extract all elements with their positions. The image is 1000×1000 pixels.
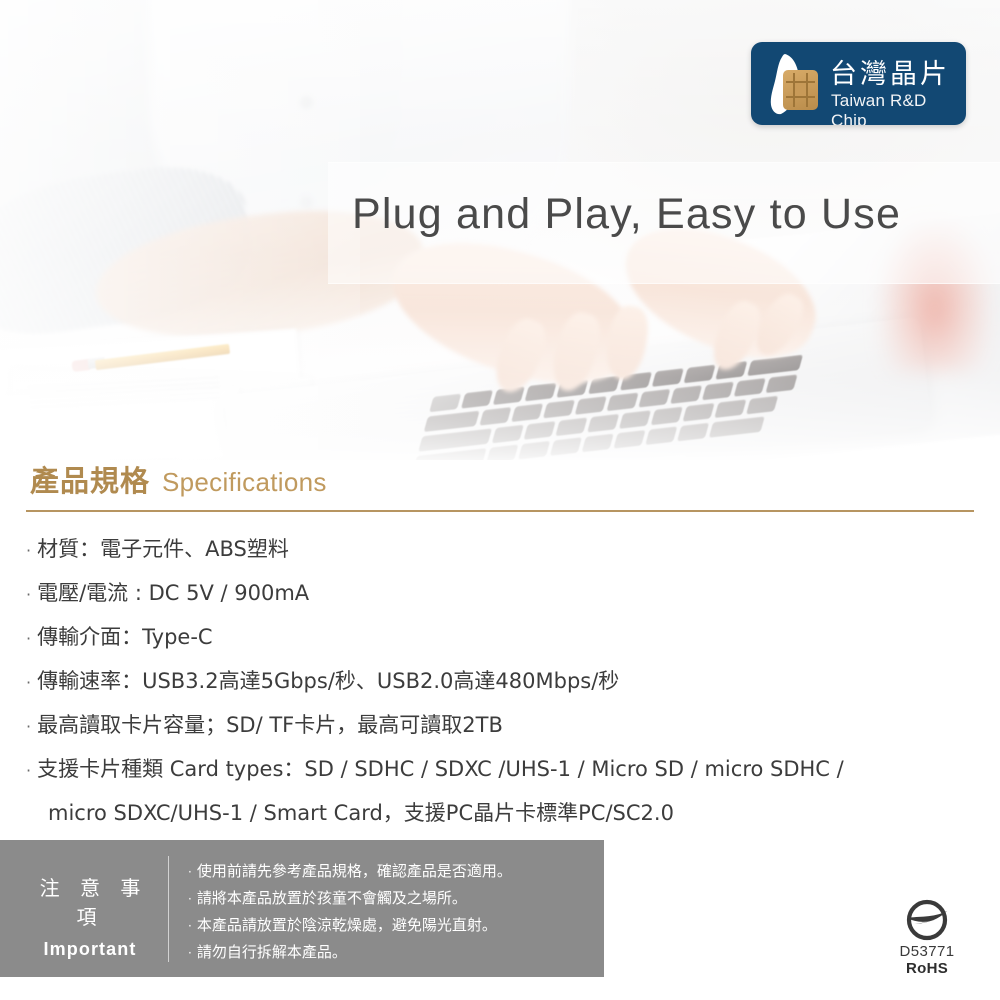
rohs-certification: D53771 RoHS xyxy=(877,898,977,977)
spec-item-text: 電壓/電流 : DC 5V / 900mA xyxy=(37,581,309,605)
specifications-list: ·材質：電子元件、ABS塑料 ·電壓/電流 : DC 5V / 900mA ·傳… xyxy=(26,528,976,834)
photo-left-fade xyxy=(0,0,360,460)
bullet-icon: · xyxy=(26,673,31,692)
notice-label-en: Important xyxy=(20,939,160,960)
brand-name-cn: 台灣晶片 xyxy=(830,52,950,91)
bullet-icon: · xyxy=(26,629,31,648)
spec-divider xyxy=(26,510,974,512)
notice-label: 注 意 事 項 Important xyxy=(20,872,160,960)
notice-item: ·請將本產品放置於孩童不會觸及之場所。 xyxy=(188,885,588,912)
notice-item-text: 請勿自行拆解本產品。 xyxy=(197,943,347,961)
bullet-icon: · xyxy=(188,892,192,906)
bullet-icon: · xyxy=(26,761,31,780)
spec-item: ·電壓/電流 : DC 5V / 900mA xyxy=(26,572,976,616)
spec-title-en: Specifications xyxy=(162,467,327,497)
notice-item-text: 使用前請先參考產品規格，確認產品是否適用。 xyxy=(197,862,512,880)
notice-item: ·請勿自行拆解本產品。 xyxy=(188,939,588,966)
spec-item-text: 傳輸速率：USB3.2高達5Gbps/秒、USB2.0高達480Mbps/秒 xyxy=(37,669,619,693)
spec-item-text: 材質：電子元件、ABS塑料 xyxy=(37,537,289,561)
rohs-mark-icon xyxy=(899,898,955,942)
important-notice-band: 注 意 事 項 Important ·使用前請先參考產品規格，確認產品是否適用。… xyxy=(0,840,604,977)
card-types-line-2: micro SDXC/UHS-1 / Smart Card，支援PC晶片卡標準P… xyxy=(26,792,976,834)
sim-chip-icon xyxy=(783,70,818,110)
spec-item: ·傳輸介面：Type-C xyxy=(26,616,976,660)
bullet-icon: · xyxy=(188,865,192,879)
notice-item-text: 本產品請放置於陰涼乾燥處，避免陽光直射。 xyxy=(197,916,497,934)
spec-title-cn: 產品規格 xyxy=(30,464,150,498)
bullet-icon: · xyxy=(188,919,192,933)
bullet-icon: · xyxy=(188,946,192,960)
notice-item: ·使用前請先參考產品規格，確認產品是否適用。 xyxy=(188,858,588,885)
notice-label-cn: 注 意 事 項 xyxy=(20,872,160,930)
spec-item: ·材質：電子元件、ABS塑料 xyxy=(26,528,976,572)
bullet-icon: · xyxy=(26,717,31,736)
rohs-label: RoHS xyxy=(877,960,977,977)
spec-item-text: 最高讀取卡片容量；SD/ TF卡片，最高可讀取2TB xyxy=(37,713,503,737)
spec-item: ·傳輸速率：USB3.2高達5Gbps/秒、USB2.0高達480Mbps/秒 xyxy=(26,660,976,704)
rohs-code: D53771 xyxy=(877,943,977,960)
bullet-icon: · xyxy=(26,541,31,560)
notice-list: ·使用前請先參考產品規格，確認產品是否適用。 ·請將本產品放置於孩童不會觸及之場… xyxy=(188,858,588,966)
brand-name-en: Taiwan R&D Chip xyxy=(831,91,966,125)
specifications-heading: 產品規格Specifications xyxy=(30,458,327,500)
brand-logo-badge: 台灣晶片 Taiwan R&D Chip xyxy=(751,42,966,125)
spec-item-card-types: ·支援卡片種類 Card types：SD / SDHC / SDXC /UHS… xyxy=(26,748,976,834)
bullet-icon: · xyxy=(26,585,31,604)
spec-item: ·最高讀取卡片容量；SD/ TF卡片，最高可讀取2TB xyxy=(26,704,976,748)
card-types-line-1: 支援卡片種類 Card types：SD / SDHC / SDXC /UHS-… xyxy=(37,757,844,781)
notice-item-text: 請將本產品放置於孩童不會觸及之場所。 xyxy=(197,889,467,907)
spec-item-text: 傳輸介面：Type-C xyxy=(37,625,212,649)
page-title: Plug and Play, Easy to Use xyxy=(352,190,992,239)
notice-vertical-divider xyxy=(168,856,169,962)
notice-item: ·本產品請放置於陰涼乾燥處，避免陽光直射。 xyxy=(188,912,588,939)
